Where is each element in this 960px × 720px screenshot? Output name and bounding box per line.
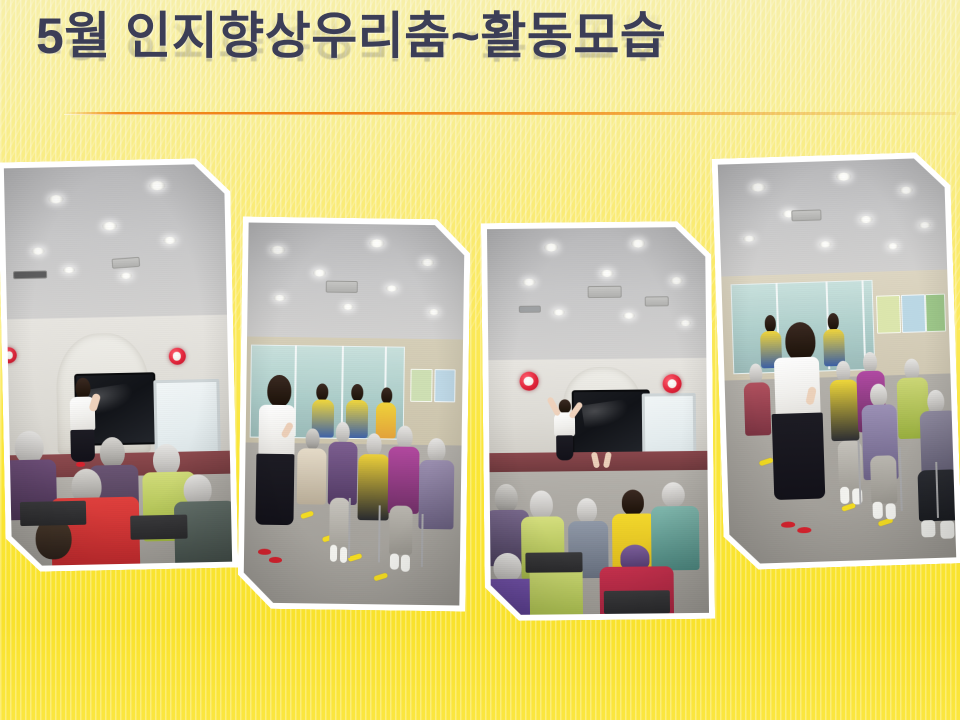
photo-2-image — [243, 223, 464, 606]
presentation-slide: 5월 인지향상우리춤~활동모습 5월 인지향상우리춤~활동모습 — [0, 0, 960, 720]
photo-1-image — [4, 164, 232, 567]
photo-frame-4[interactable] — [712, 151, 960, 570]
photo-4-image — [718, 158, 956, 565]
photo-frame-3[interactable] — [481, 221, 715, 621]
page-title-reflection: 5월 인지향상우리춤~활동모습 — [36, 8, 916, 64]
photo-frame-2[interactable] — [237, 216, 470, 611]
title-block: 5월 인지향상우리춤~활동모습 5월 인지향상우리춤~활동모습 — [36, 8, 916, 128]
photo-3-image — [487, 227, 709, 615]
photo-frame-1[interactable] — [0, 158, 238, 573]
title-divider-rule — [64, 112, 956, 115]
